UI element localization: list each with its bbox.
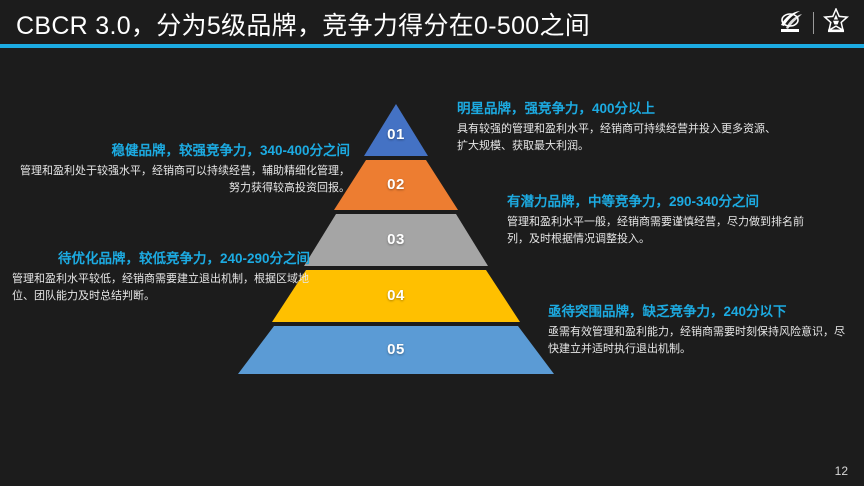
- page-title: CBCR 3.0，分为5级品牌，竞争力得分在0-500之间: [16, 6, 590, 42]
- callout-level-04: 待优化品牌，较低竞争力，240-290分之间 管理和盈利水平较低，经销商需要建立…: [12, 249, 310, 305]
- callout-03-heading: 有潜力品牌，中等竞争力，290-340分之间: [507, 192, 819, 212]
- callout-level-01: 明星品牌，强竞争力，400分以上 具有较强的管理和盈利水平，经销商可持续经营并投…: [457, 99, 777, 155]
- callout-02-heading: 稳健品牌，较强竞争力，340-400分之间: [18, 141, 350, 161]
- cadc-star-logo-icon: [822, 8, 850, 39]
- pyramid-layer-05-number: 05: [238, 341, 554, 358]
- callout-level-05: 亟待突围品牌，缺乏竞争力，240分以下 亟需有效管理和盈利能力，经销商需要时刻保…: [548, 302, 848, 358]
- callout-01-heading: 明星品牌，强竞争力，400分以上: [457, 99, 777, 119]
- callout-02-body: 管理和盈利处于较强水平，经销商可以持续经营，辅助精细化管理，努力获得较高投资回报…: [18, 163, 350, 197]
- callout-04-heading: 待优化品牌，较低竞争力，240-290分之间: [12, 249, 310, 269]
- callout-04-body: 管理和盈利水平较低，经销商需要建立退出机制，根据区域地位、团队能力及时总结判断。: [12, 271, 310, 305]
- callout-03-body: 管理和盈利水平一般，经销商需要谨慎经营，尽力做到排名前列，及时根据情况调整投入。: [507, 214, 819, 248]
- callout-level-03: 有潜力品牌，中等竞争力，290-340分之间 管理和盈利水平一般，经销商需要谨慎…: [507, 192, 819, 248]
- cbcr-logo-icon: [775, 8, 805, 39]
- callout-05-body: 亟需有效管理和盈利能力，经销商需要时刻保持风险意识，尽快建立并适时执行退出机制。: [548, 324, 848, 358]
- slide-header: CBCR 3.0，分为5级品牌，竞争力得分在0-500之间: [0, 0, 864, 45]
- logo-group: [775, 8, 850, 38]
- logo-divider: [813, 12, 814, 34]
- page-number: 12: [835, 464, 848, 478]
- pyramid-layer-05[interactable]: 05: [238, 326, 554, 374]
- header-divider-rule: [0, 44, 864, 48]
- callout-01-body: 具有较强的管理和盈利水平，经销商可持续经营并投入更多资源、扩大规模、获取最大利润…: [457, 121, 777, 155]
- callout-level-02: 稳健品牌，较强竞争力，340-400分之间 管理和盈利处于较强水平，经销商可以持…: [18, 141, 350, 197]
- slide: CBCR 3.0，分为5级品牌，竞争力得分在0-500之间: [0, 0, 864, 486]
- callout-05-heading: 亟待突围品牌，缺乏竞争力，240分以下: [548, 302, 848, 322]
